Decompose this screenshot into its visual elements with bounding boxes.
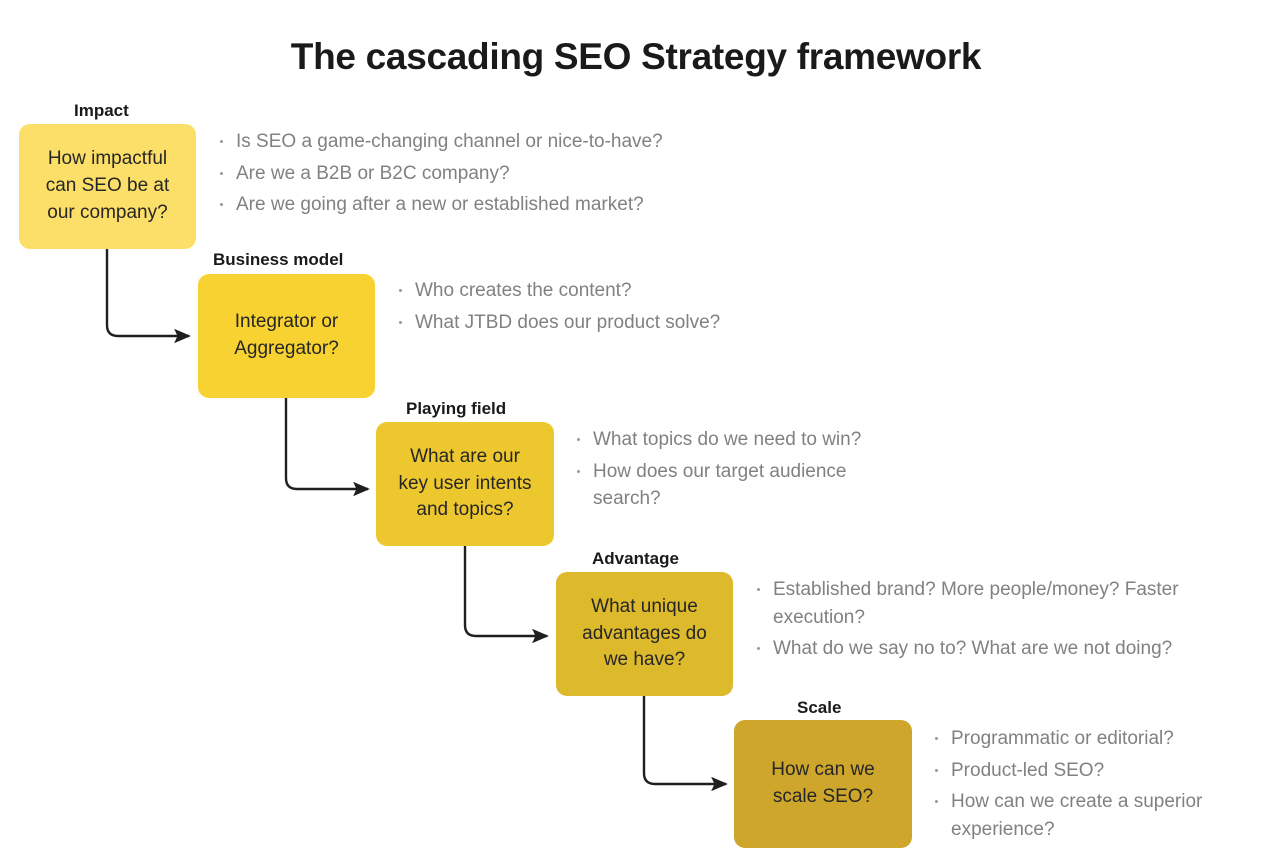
stage-bullets-impact: Is SEO a game-changing channel or nice-t… [215, 128, 735, 223]
stage-box-text-advantage: What unique advantages do we have? [582, 594, 707, 675]
list-item: Are we going after a new or established … [215, 191, 735, 219]
page-title: The cascading SEO Strategy framework [0, 36, 1272, 78]
stage-box-business-model[interactable]: Integrator or Aggregator? [198, 274, 375, 398]
stage-bullets-advantage: Established brand? More people/money? Fa… [752, 576, 1218, 667]
list-item: Who creates the content? [394, 277, 854, 305]
stage-box-text-scale: How can we scale SEO? [771, 757, 875, 811]
list-item: Established brand? More people/money? Fa… [752, 576, 1218, 631]
list-item: What JTBD does our product solve? [394, 309, 854, 337]
stage-label-business-model: Business model [213, 251, 343, 268]
stage-box-text-business-model: Integrator or Aggregator? [234, 309, 339, 363]
list-item: How can we create a superior experience? [930, 788, 1235, 843]
stage-box-text-impact: How impactful can SEO be at our company? [46, 146, 170, 227]
stage-bullets-playing-field: What topics do we need to win? How does … [572, 426, 902, 517]
stage-box-scale[interactable]: How can we scale SEO? [734, 720, 912, 848]
list-item: What do we say no to? What are we not do… [752, 635, 1218, 663]
stage-label-advantage: Advantage [592, 550, 679, 567]
connector-playing-field-to-advantage [465, 546, 547, 636]
connector-impact-to-business-model [107, 249, 189, 336]
stage-label-impact: Impact [74, 102, 129, 119]
stage-label-playing-field: Playing field [406, 400, 506, 417]
connector-advantage-to-scale [644, 696, 726, 784]
list-item: What topics do we need to win? [572, 426, 902, 454]
diagram-canvas: The cascading SEO Strategy framework Imp… [0, 0, 1272, 856]
stage-box-playing-field[interactable]: What are our key user intents and topics… [376, 422, 554, 546]
stage-bullets-business-model: Who creates the content? What JTBD does … [394, 277, 854, 340]
stage-bullets-scale: Programmatic or editorial? Product-led S… [930, 725, 1235, 847]
connector-business-model-to-playing-field [286, 398, 368, 489]
list-item: Is SEO a game-changing channel or nice-t… [215, 128, 735, 156]
list-item: Product-led SEO? [930, 757, 1235, 785]
stage-box-impact[interactable]: How impactful can SEO be at our company? [19, 124, 196, 249]
list-item: Are we a B2B or B2C company? [215, 160, 735, 188]
list-item: How does our target audience search? [572, 458, 902, 513]
stage-label-scale: Scale [797, 699, 841, 716]
stage-box-text-playing-field: What are our key user intents and topics… [398, 444, 531, 525]
stage-box-advantage[interactable]: What unique advantages do we have? [556, 572, 733, 696]
list-item: Programmatic or editorial? [930, 725, 1235, 753]
